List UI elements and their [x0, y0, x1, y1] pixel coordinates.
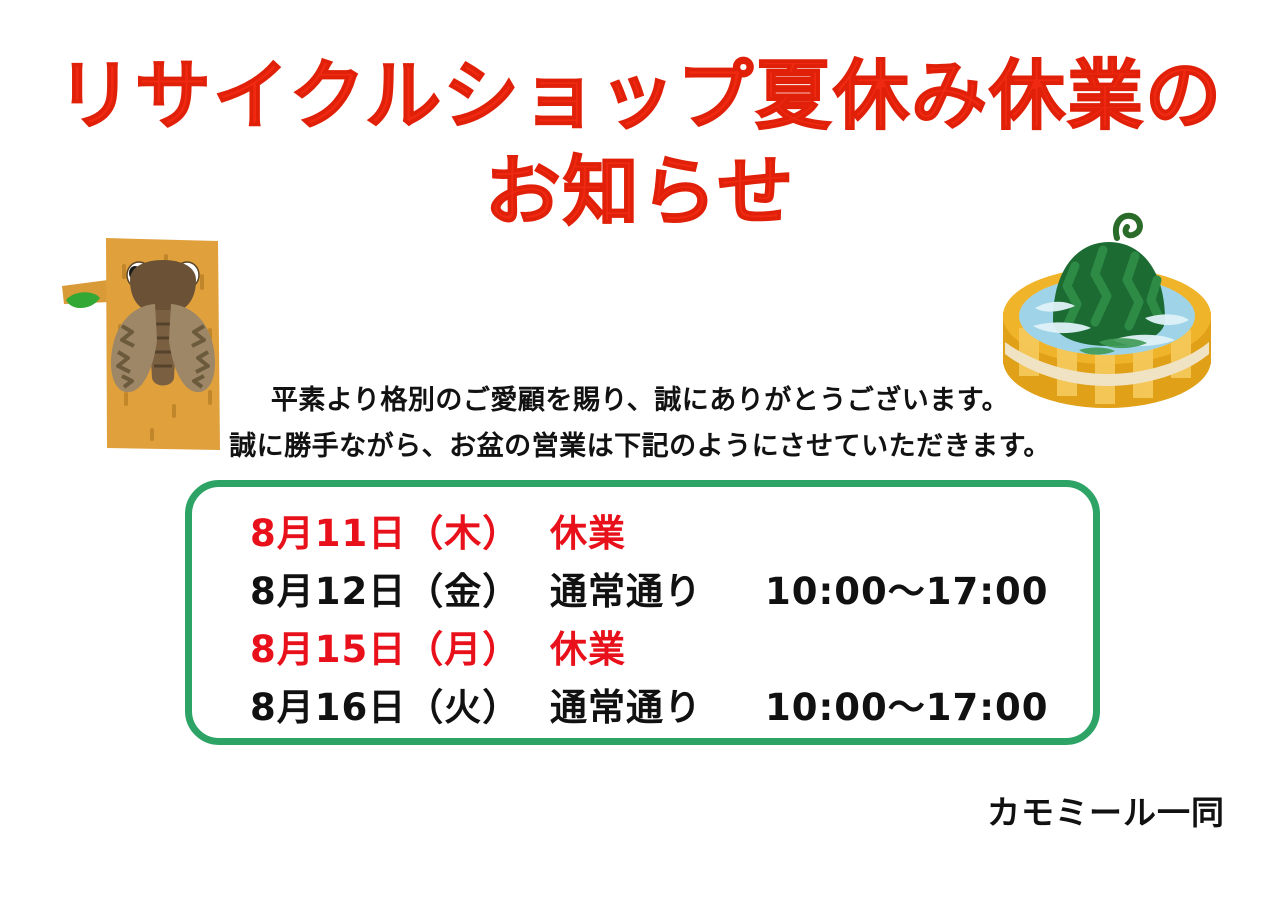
cicada-head-shape: [130, 260, 196, 314]
schedule-status: 休業: [550, 503, 765, 557]
schedule-list: 8月11日（木） 休業 8月12日（金） 通常通り 10:00～17:00 8月…: [250, 503, 1080, 735]
schedule-status: 通常通り: [550, 561, 765, 615]
schedule-row: 8月12日（金） 通常通り 10:00～17:00: [250, 561, 1080, 619]
notice-poster: リサイクルショップ夏休み休業の お知らせ: [0, 0, 1280, 905]
schedule-status: 休業: [550, 619, 765, 673]
body-line-2: 誠に勝手ながら、お盆の営業は下記のようにさせていただきます。: [0, 424, 1280, 470]
title-line-1: リサイクルショップ夏休み休業の: [0, 52, 1280, 140]
schedule-date: 8月16日（火）: [250, 677, 550, 731]
schedule-row: 8月15日（月） 休業: [250, 619, 1080, 677]
schedule-status: 通常通り: [550, 677, 765, 731]
body-text: 平素より格別のご愛顧を賜り、誠にありがとうございます。 誠に勝手ながら、お盆の営…: [0, 378, 1280, 470]
schedule-row: 8月11日（木） 休業: [250, 503, 1080, 561]
schedule-date: 8月11日（木）: [250, 503, 550, 557]
schedule-hours: 10:00～17:00: [765, 677, 1049, 731]
watermelon-stem-shape: [1116, 216, 1140, 238]
schedule-date: 8月12日（金）: [250, 561, 550, 615]
schedule-hours: 10:00～17:00: [765, 561, 1049, 615]
schedule-row: 8月16日（火） 通常通り 10:00～17:00: [250, 677, 1080, 735]
body-line-1: 平素より格別のご愛顧を賜り、誠にありがとうございます。: [0, 378, 1280, 424]
schedule-date: 8月15日（月）: [250, 619, 550, 673]
signature: カモミール一同: [987, 786, 1225, 834]
